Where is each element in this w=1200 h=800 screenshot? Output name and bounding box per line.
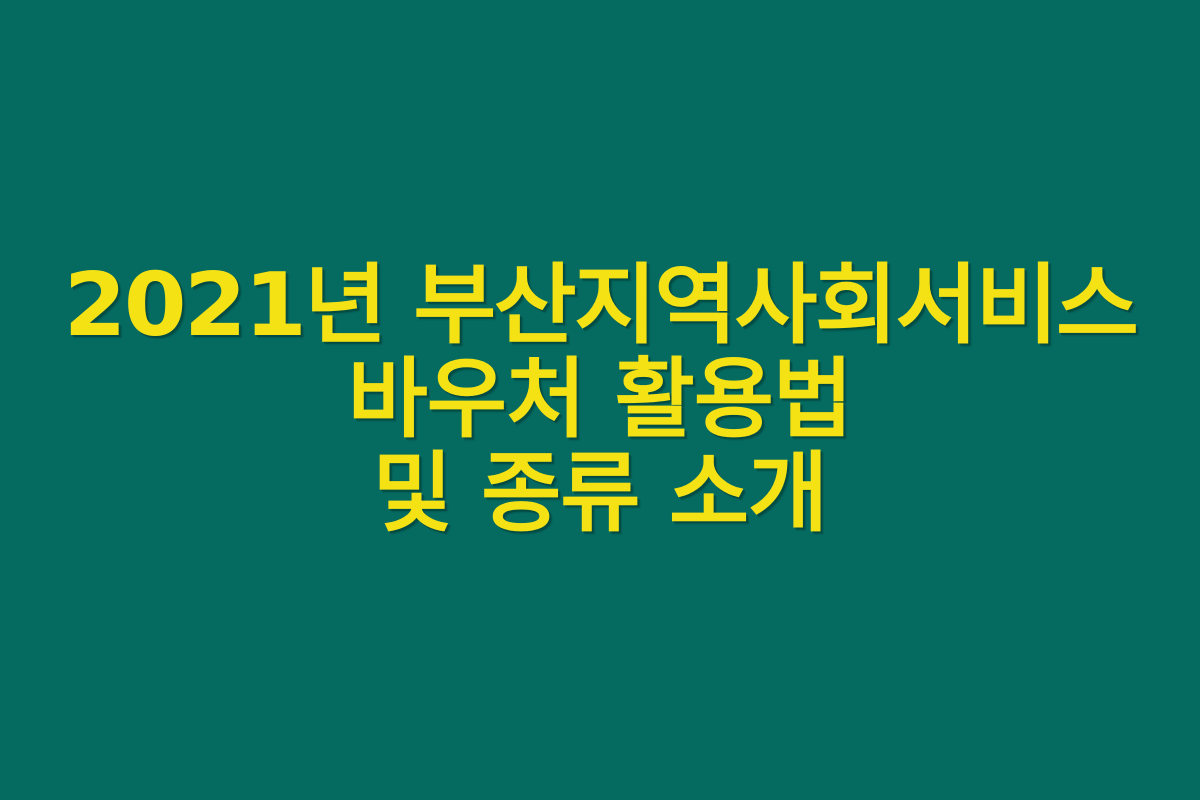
title-line-3: 및 종류 소개	[14, 447, 1186, 541]
title-block: 2021년 부산지역사회서비스 바우처 활용법 및 종류 소개	[0, 259, 1200, 541]
title-card: 2021년 부산지역사회서비스 바우처 활용법 및 종류 소개	[0, 0, 1200, 800]
title-line-2: 바우처 활용법	[14, 353, 1186, 447]
title-line-1: 2021년 부산지역사회서비스	[0, 259, 1200, 353]
